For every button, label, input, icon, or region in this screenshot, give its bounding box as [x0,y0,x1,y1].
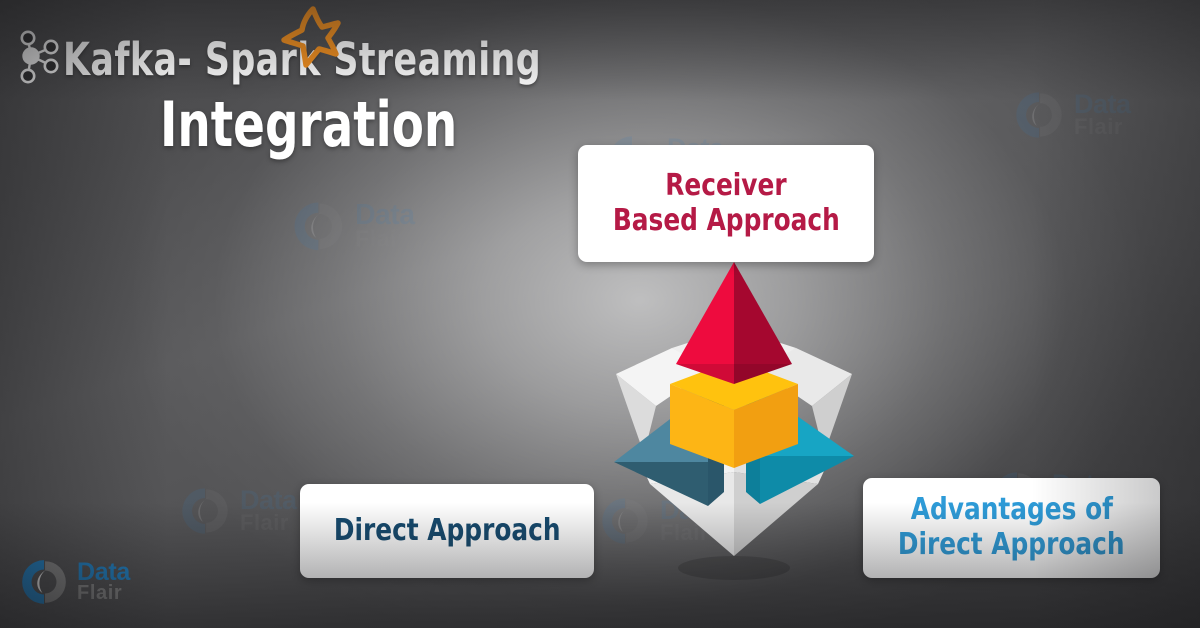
box-top-line1: Receiver [665,169,786,204]
slide-canvas: Data Flair Data Flair Data Flair [0,0,1200,628]
watermark-word-data: Data [240,488,297,513]
dataflair-mark-icon [178,484,232,538]
box-right-line2: Direct Approach [898,528,1125,563]
watermark-top-right: Data Flair [1012,88,1131,142]
watermark-word-flair: Flair [240,513,297,533]
spark-star-icon [277,4,345,70]
box-left-line1: Direct Approach [334,514,561,549]
watermark-word-data: Data [355,202,414,228]
dataflair-logo: Data Flair [18,556,130,608]
dataflair-mark-icon [1012,88,1066,142]
brand-word-data: Data [77,561,130,584]
box-top-line2: Based Approach [613,204,840,239]
kafka-nodes-icon [14,28,68,86]
diagram-svg [598,256,870,586]
diagram-shadow [678,556,790,580]
watermark-word-flair: Flair [355,229,414,250]
receiver-based-approach-box[interactable]: Receiver Based Approach [578,145,874,262]
advantages-of-direct-approach-box[interactable]: Advantages of Direct Approach [863,478,1160,578]
watermark-low-left: Data Flair [178,484,297,538]
3d-cube-pyramids-diagram [598,256,870,586]
brand-word-flair: Flair [77,584,130,602]
watermark-word-flair: Flair [1074,117,1131,137]
top-pyramid [676,262,792,384]
page-title-line2: Integration [160,88,457,161]
direct-approach-box[interactable]: Direct Approach [300,484,594,578]
watermark-word-data: Data [1074,92,1131,117]
watermark-mid-left: Data Flair [290,198,414,255]
dataflair-mark-icon [18,556,70,608]
box-right-line1: Advantages of [910,493,1112,528]
dataflair-mark-icon [290,198,347,255]
